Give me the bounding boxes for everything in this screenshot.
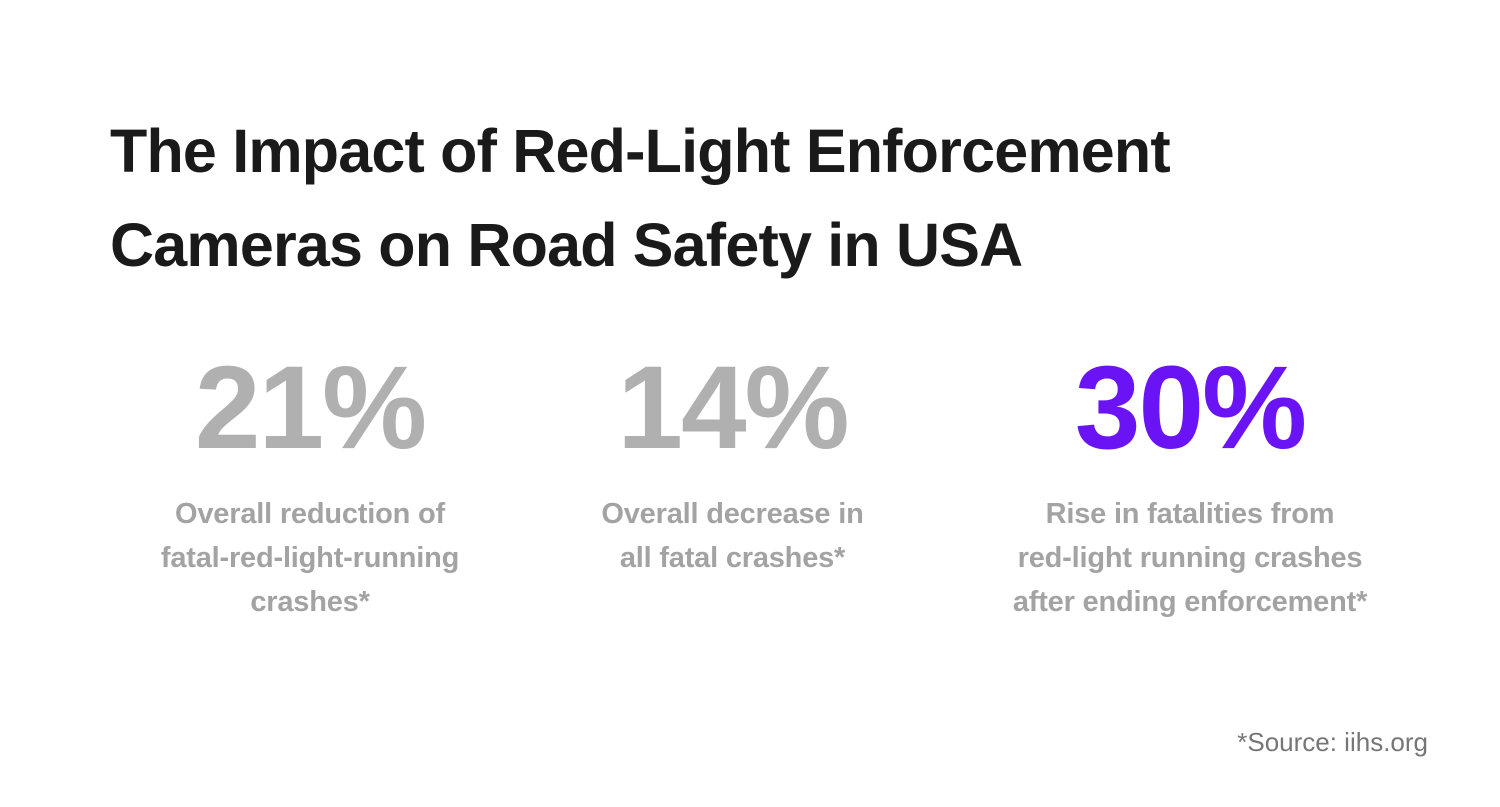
stat-value-1: 21% — [195, 352, 425, 464]
stat-caption-3: Rise in fatalities from red-light runnin… — [1013, 464, 1367, 624]
stat-value-2: 14% — [617, 352, 847, 464]
infographic-canvas: The Impact of Red-Light Enforcement Came… — [0, 0, 1500, 807]
page-title: The Impact of Red-Light Enforcement Came… — [110, 104, 1400, 292]
source-footnote: *Source: iihs.org — [1237, 726, 1428, 758]
title-block: The Impact of Red-Light Enforcement Came… — [110, 104, 1400, 292]
stat-caption-2: Overall decrease in all fatal crashes* — [601, 464, 863, 580]
stat-card-3: 30% Rise in fatalities from red-light ru… — [940, 352, 1440, 624]
stat-value-3: 30% — [1075, 352, 1305, 464]
statistics-row: 21% Overall reduction of fatal-red-light… — [95, 352, 1440, 624]
stat-caption-1: Overall reduction of fatal-red-light-run… — [161, 464, 459, 624]
stat-card-1: 21% Overall reduction of fatal-red-light… — [95, 352, 525, 624]
stat-card-2: 14% Overall decrease in all fatal crashe… — [543, 352, 923, 580]
